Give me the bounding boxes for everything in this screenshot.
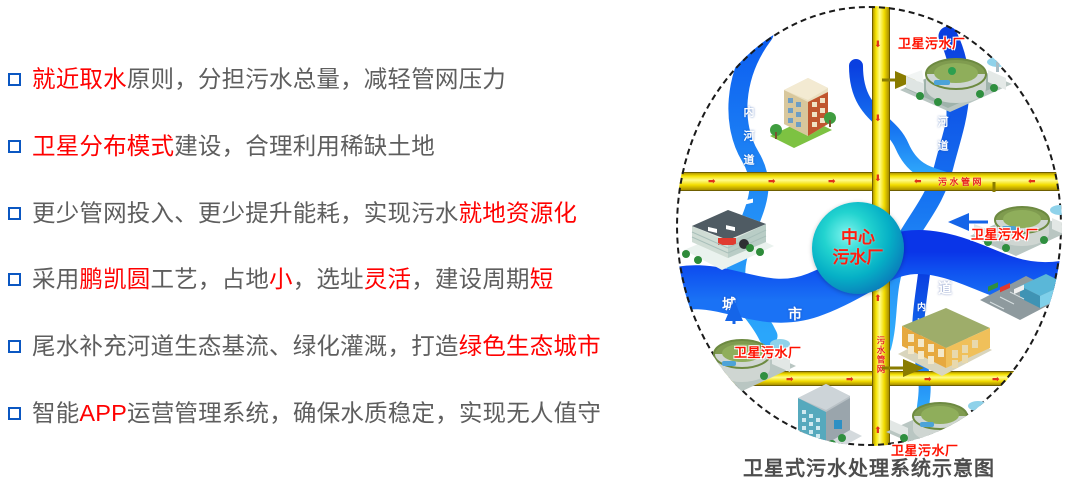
hollow-square-bullet-icon bbox=[8, 407, 21, 420]
bullet-plain-text: 运营管理系统，确保水质稳定，实现无人值守 bbox=[127, 400, 601, 426]
hollow-square-bullet-icon bbox=[8, 73, 21, 86]
bullet-plain-text: 尾水补充河道生态基流、绿化灌溉，打造 bbox=[32, 333, 459, 359]
bullet-text: 采用鹏凯圆工艺，占地小，选址灵活，建设周期短 bbox=[32, 264, 553, 294]
center-plant-line1: 中心 bbox=[841, 228, 875, 248]
system-diagram: ➡ ➡ ➡ ⬅ ⬅ ⬇ ⬇ ⬇ ⬆ ⬆ ➡ ➡ ➡ ➡ ➡ 污水管网 污水管网 … bbox=[658, 0, 1080, 494]
bullet-highlight-text: 绿色生态城市 bbox=[459, 333, 601, 359]
hollow-square-bullet-icon bbox=[8, 273, 21, 286]
plant-label-bottom-right: 卫星污水厂 bbox=[891, 440, 959, 459]
hollow-square-bullet-icon bbox=[8, 207, 21, 220]
bullet-plain-text: 更少管网投入、更少提升能耗，实现污水 bbox=[32, 200, 459, 226]
bullet-plain-text: 工艺，占地 bbox=[151, 266, 270, 292]
bullet-highlight-text: 就近取水 bbox=[32, 66, 127, 92]
bullet-text: 智能APP运营管理系统，确保水质稳定，实现无人值守 bbox=[32, 398, 601, 428]
bullet-plain-text: 原则，分担污水总量，减轻管网压力 bbox=[127, 66, 506, 92]
diagram-caption: 卫星式污水处理系统示意图 bbox=[658, 452, 1080, 481]
bullet-text: 就近取水原则，分担污水总量，减轻管网压力 bbox=[32, 64, 506, 94]
bullet-highlight-text: 灵活 bbox=[364, 266, 411, 292]
hollow-square-bullet-icon bbox=[8, 340, 21, 353]
bullet-item: 卫星分布模式建设，合理利用稀缺土地 bbox=[0, 131, 660, 161]
bullet-plain-text: ，选址 bbox=[293, 266, 364, 292]
bullet-highlight-text: APP bbox=[79, 400, 127, 426]
bullet-plain-text: 采用 bbox=[32, 266, 79, 292]
bullet-item: 更少管网投入、更少提升能耗，实现污水就地资源化 bbox=[0, 198, 660, 228]
bullet-plain-text: 建设，合理利用稀缺土地 bbox=[174, 133, 435, 159]
bullet-highlight-text: 短 bbox=[530, 266, 554, 292]
plant-label-bottom-left: 卫星污水厂 bbox=[734, 342, 802, 361]
center-wastewater-plant[interactable]: 中心 污水厂 bbox=[812, 202, 904, 294]
bullet-text: 尾水补充河道生态基流、绿化灌溉，打造绿色生态城市 bbox=[32, 331, 601, 361]
center-plant-line2: 污水厂 bbox=[833, 248, 884, 268]
bullet-text: 卫星分布模式建设，合理利用稀缺土地 bbox=[32, 131, 435, 161]
lowrise-building-icon bbox=[892, 302, 998, 380]
commercial-building-icon bbox=[678, 198, 778, 278]
bullet-plain-text: 智能 bbox=[32, 400, 79, 426]
plant-label-middle-right: 卫星污水厂 bbox=[971, 224, 1039, 243]
bullet-highlight-text: 小 bbox=[269, 266, 293, 292]
bullet-text: 更少管网投入、更少提升能耗，实现污水就地资源化 bbox=[32, 198, 577, 228]
hollow-square-bullet-icon bbox=[8, 140, 21, 153]
satellite-plant-icon bbox=[882, 388, 994, 446]
bullet-item: 智能APP运营管理系统，确保水质稳定，实现无人值守 bbox=[0, 398, 660, 428]
bullet-highlight-text: 鹏凯圆 bbox=[79, 266, 150, 292]
office-tower-icon bbox=[780, 376, 866, 446]
bullet-highlight-text: 卫星分布模式 bbox=[32, 133, 174, 159]
bullet-list: 就近取水原则，分担污水总量，减轻管网压力卫星分布模式建设，合理利用稀缺土地更少管… bbox=[0, 58, 660, 438]
bullet-item: 尾水补充河道生态基流、绿化灌溉，打造绿色生态城市 bbox=[0, 331, 660, 361]
bullet-item: 就近取水原则，分担污水总量，减轻管网压力 bbox=[0, 64, 660, 94]
bullet-plain-text: ，建设周期 bbox=[411, 266, 530, 292]
slide-root: 就近取水原则，分担污水总量，减轻管网压力卫星分布模式建设，合理利用稀缺土地更少管… bbox=[0, 0, 1080, 494]
bullet-item: 采用鹏凯圆工艺，占地小，选址灵活，建设周期短 bbox=[0, 264, 660, 294]
residential-building-icon bbox=[762, 66, 840, 156]
plant-label-top-right: 卫星污水厂 bbox=[898, 33, 966, 52]
bullet-highlight-text: 就地资源化 bbox=[459, 200, 578, 226]
